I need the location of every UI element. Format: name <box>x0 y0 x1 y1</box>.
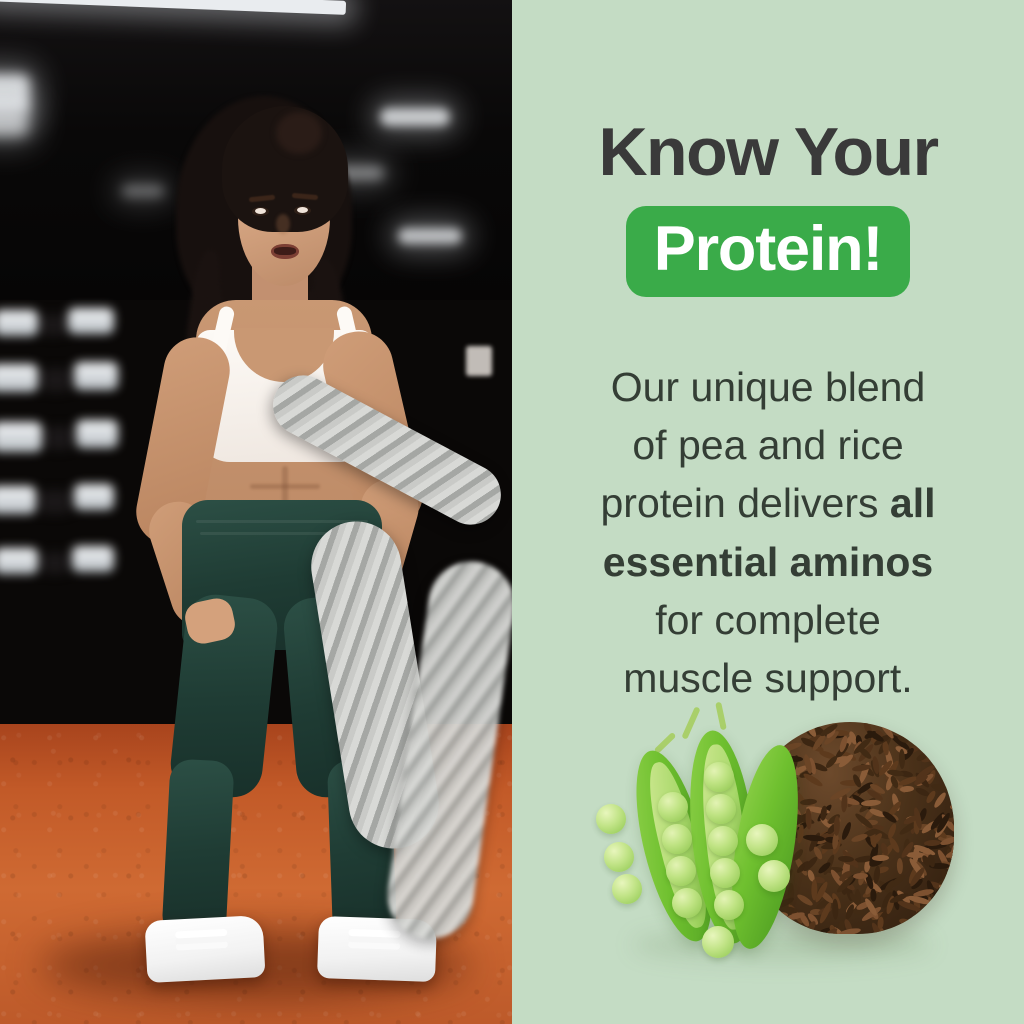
shoe-laces <box>348 929 400 938</box>
rice-grain <box>870 889 876 902</box>
rice-grain <box>944 735 954 742</box>
headline-line-1: Know Your <box>512 118 1024 186</box>
nose <box>276 214 290 234</box>
rice-grain <box>766 722 777 738</box>
loose-pea <box>702 926 734 958</box>
body-line-5: for complete <box>655 597 881 643</box>
content-panel: Know Your Protein! Our unique blend of p… <box>512 0 1024 1024</box>
loose-pea <box>612 874 642 904</box>
rice-grain <box>946 897 954 904</box>
loose-pea <box>758 860 790 892</box>
body-line-4-bold: essential aminos <box>603 539 933 585</box>
protein-ad-poster: Know Your Protein! Our unique blend of p… <box>0 0 1024 1024</box>
rice-grain <box>899 918 913 927</box>
body-line-3-plain: protein delivers <box>600 480 889 526</box>
protein-badge: Protein! <box>626 206 910 297</box>
rice-grain <box>872 855 890 861</box>
eye-white <box>255 208 266 214</box>
rice-grain <box>900 785 915 792</box>
body-copy: Our unique blend of pea and rice protein… <box>558 358 978 707</box>
pea <box>666 856 696 886</box>
rice-grain <box>897 858 904 874</box>
body-line-1: Our unique blend <box>611 364 926 410</box>
rice-grain <box>898 749 904 769</box>
pea <box>672 888 702 918</box>
badge-label: Protein! <box>654 214 882 284</box>
fitness-photo <box>0 0 512 1024</box>
rice-grain <box>833 816 840 836</box>
body-line-3-bold: all <box>890 480 936 526</box>
pea <box>662 824 692 854</box>
eye-white <box>297 207 308 213</box>
pea <box>706 794 736 824</box>
body-line-6: muscle support. <box>623 655 912 701</box>
shoe-laces <box>175 929 227 939</box>
rice-grain <box>886 822 897 839</box>
loose-pea <box>604 842 634 872</box>
pea-and-rice-image <box>596 700 956 972</box>
body-line-2: of pea and rice <box>632 422 903 468</box>
pea <box>658 792 688 822</box>
left-shoe <box>144 915 265 983</box>
headline-badge-wrapper: Protein! <box>512 206 1024 297</box>
pea <box>714 890 744 920</box>
mouth-inner <box>274 247 296 255</box>
rice-grain <box>853 872 869 879</box>
left-shin <box>161 758 234 939</box>
pea <box>708 826 738 856</box>
rice-grain <box>747 722 763 731</box>
rice-grain <box>952 794 954 801</box>
pea <box>704 762 734 792</box>
athlete-figure <box>0 0 512 1024</box>
hair-highlight <box>276 112 322 154</box>
pod-stem <box>681 706 700 740</box>
ab-definition <box>250 484 320 489</box>
pea <box>710 858 740 888</box>
pod-stem <box>715 702 727 731</box>
loose-pea <box>596 804 626 834</box>
loose-pea <box>746 824 778 856</box>
rice-grain <box>950 804 954 810</box>
